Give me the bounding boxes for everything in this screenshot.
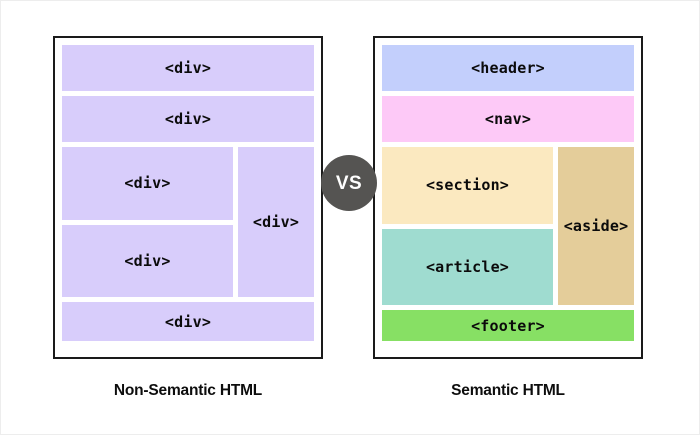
non-semantic-middle-main: <div> <div> — [62, 147, 233, 297]
block-section: <section> — [382, 147, 553, 224]
block-footer: <footer> — [382, 310, 634, 341]
block-header: <header> — [382, 45, 634, 91]
panel-semantic: <header> <nav> <section> <article> <asid… — [373, 36, 643, 359]
block-div-3: <div> — [62, 147, 233, 220]
block-div-2: <div> — [62, 96, 314, 142]
block-nav: <nav> — [382, 96, 634, 142]
block-div-4: <div> — [62, 225, 233, 298]
panel-non-semantic: <div> <div> <div> <div> <div> <div> — [53, 36, 323, 359]
vs-badge: VS — [321, 155, 377, 211]
block-div-1: <div> — [62, 45, 314, 91]
semantic-middle-side: <aside> — [558, 147, 634, 305]
vs-badge-label: VS — [336, 174, 362, 193]
diagram-canvas: <div> <div> <div> <div> <div> <div> <hea… — [0, 0, 700, 435]
block-article: <article> — [382, 229, 553, 306]
semantic-middle-main: <section> <article> — [382, 147, 553, 305]
block-div-5: <div> — [238, 147, 314, 297]
caption-semantic: Semantic HTML — [373, 380, 643, 402]
non-semantic-middle-side: <div> — [238, 147, 314, 297]
non-semantic-middle-region: <div> <div> <div> — [62, 147, 314, 297]
block-div-6: <div> — [62, 302, 314, 341]
caption-non-semantic: Non-Semantic HTML — [53, 380, 323, 402]
block-aside: <aside> — [558, 147, 634, 305]
semantic-middle-region: <section> <article> <aside> — [382, 147, 634, 305]
